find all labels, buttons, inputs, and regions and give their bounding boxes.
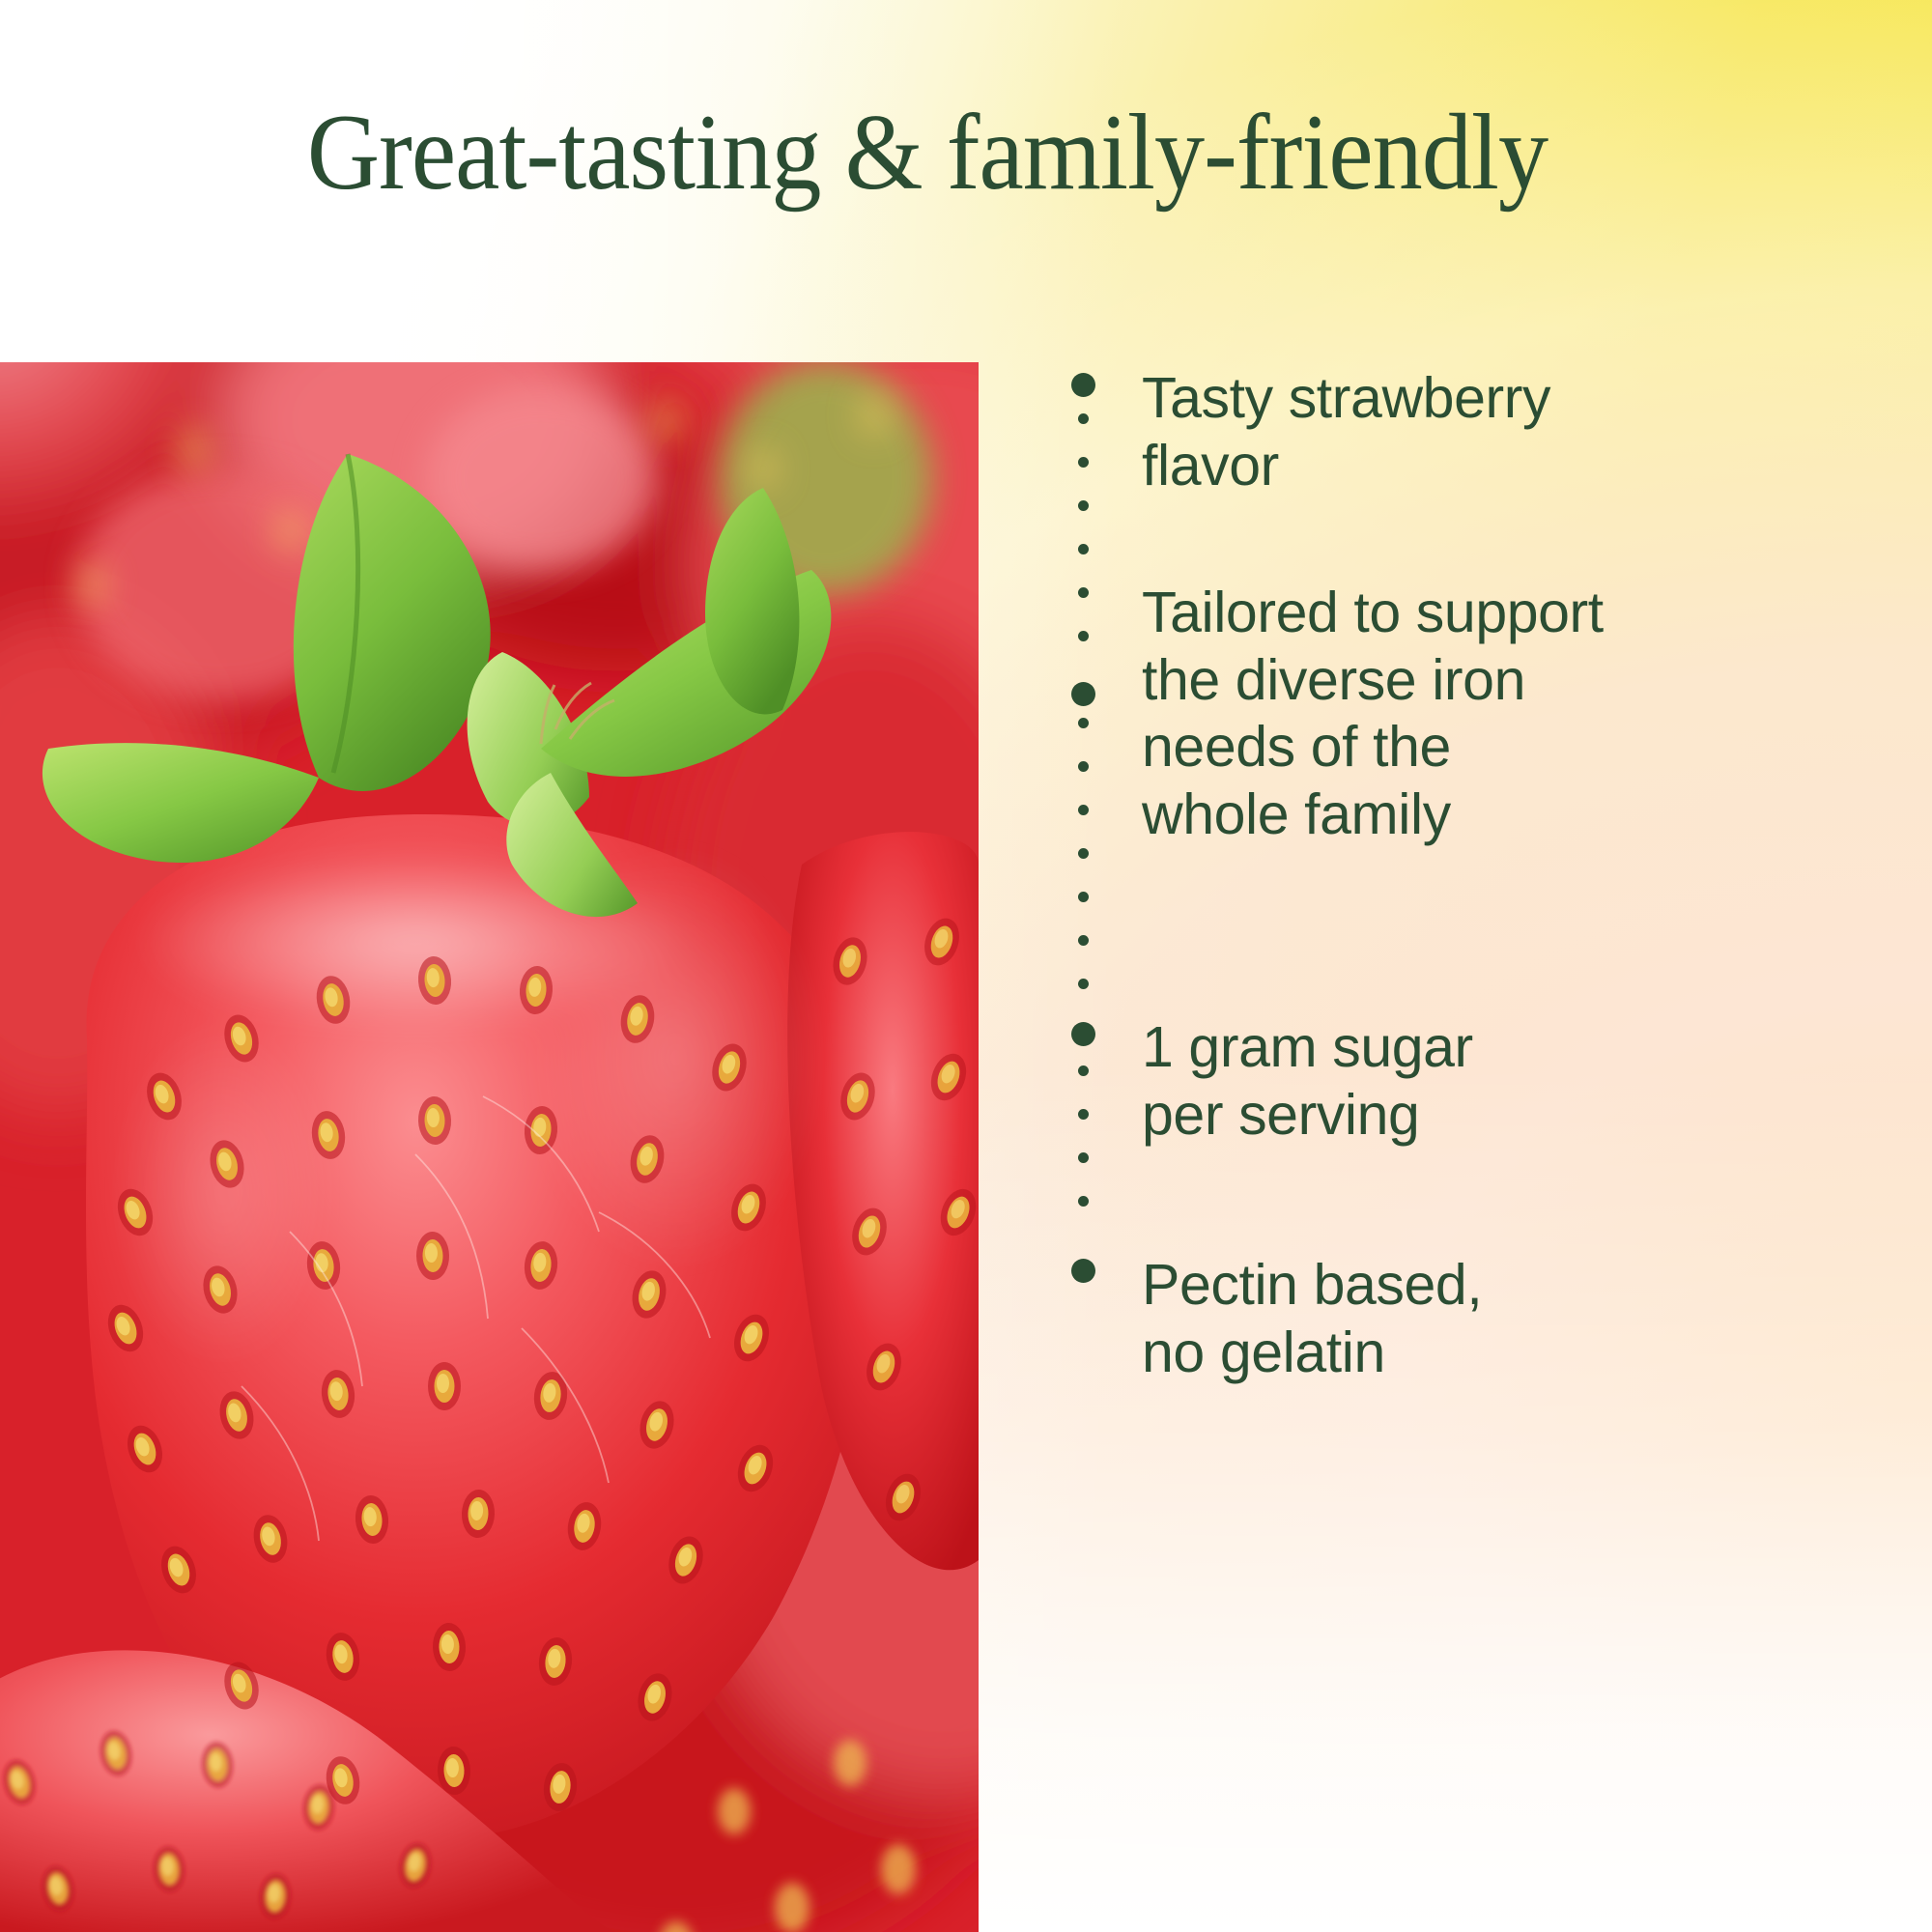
rail-dot [1078, 544, 1089, 554]
bullet-marker-one-gram-sugar [1071, 1022, 1095, 1046]
strawberry-macro-photo [0, 362, 979, 1932]
bullet-line: Tailored to support [1142, 580, 1876, 647]
rail-dot [1078, 1196, 1089, 1207]
rail-dot [1078, 761, 1089, 772]
rail-dot [1078, 1109, 1089, 1120]
strawberry-illustration [0, 362, 979, 1932]
page-title: Great-tasting & family-friendly [65, 93, 1790, 213]
promo-graphic-canvas: Great-tasting & family-friendly [0, 0, 1932, 1932]
bullet-line: needs of the [1142, 714, 1876, 781]
rail-dot [1078, 457, 1089, 468]
bullet-line: the diverse iron [1142, 647, 1876, 715]
bullet-line: 1 gram sugar [1142, 1014, 1876, 1082]
rail-dot [1078, 935, 1089, 946]
rail-dot [1078, 631, 1089, 641]
bullet-line: whole family [1142, 781, 1876, 849]
bullet-item-pectin-based-no-gelatin: Pectin based,no gelatin [1142, 1252, 1876, 1386]
bullet-line: no gelatin [1142, 1320, 1876, 1387]
bullet-line: per serving [1142, 1082, 1876, 1150]
bullet-marker-tasty-strawberry-flavor [1071, 373, 1095, 397]
bullet-item-tasty-strawberry-flavor: Tasty strawberryflavor [1142, 365, 1876, 499]
rail-dot [1078, 500, 1089, 511]
rail-dot [1078, 413, 1089, 424]
bullet-marker-pectin-based-no-gelatin [1071, 1259, 1095, 1283]
rail-dot [1078, 979, 1089, 989]
rail-dot [1078, 587, 1089, 598]
bullet-item-one-gram-sugar: 1 gram sugarper serving [1142, 1014, 1876, 1149]
rail-dot [1078, 1152, 1089, 1163]
bullet-item-tailored-iron-needs: Tailored to supportthe diverse ironneeds… [1142, 580, 1876, 848]
bullet-line: Pectin based, [1142, 1252, 1876, 1320]
bullet-line: Tasty strawberry [1142, 365, 1876, 433]
photo-artwork [0, 362, 979, 1932]
rail-dot [1078, 892, 1089, 902]
bullet-marker-tailored-iron-needs [1071, 682, 1095, 706]
rail-dot [1078, 1065, 1089, 1076]
bullet-line: flavor [1142, 433, 1876, 500]
dotted-connector-rail [1070, 375, 1095, 1293]
rail-dot [1078, 848, 1089, 859]
rail-dot [1078, 805, 1089, 815]
rail-dot [1078, 718, 1089, 728]
